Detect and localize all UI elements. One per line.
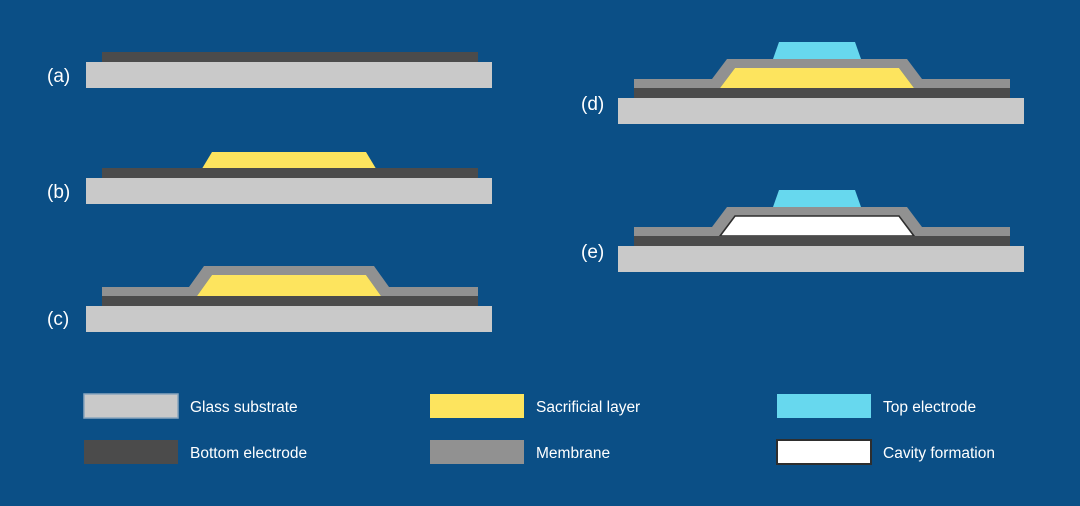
legend-label-top-electrode: Top electrode bbox=[883, 399, 976, 416]
panel-d-top-electrode bbox=[773, 42, 861, 59]
panel-e-cavity bbox=[720, 216, 914, 236]
legend-swatch-cavity-formation bbox=[777, 440, 871, 464]
legend-swatch-membrane bbox=[430, 440, 524, 464]
legend-label-bottom-electrode: Bottom electrode bbox=[190, 445, 307, 462]
panel-b-label: (b) bbox=[47, 182, 70, 203]
panel-d-label: (d) bbox=[581, 94, 604, 115]
legend-label-glass-substrate: Glass substrate bbox=[190, 399, 298, 416]
panel-c-glass-substrate bbox=[86, 306, 492, 332]
legend-swatch-bottom-electrode bbox=[84, 440, 178, 464]
panel-e-glass-substrate bbox=[618, 246, 1024, 272]
panel-a-bottom-electrode bbox=[102, 52, 478, 62]
panel-a-label: (a) bbox=[47, 66, 70, 87]
panel-c-label: (c) bbox=[47, 309, 69, 330]
panel-a: (a) bbox=[47, 52, 492, 88]
panel-b-glass-substrate bbox=[86, 178, 492, 204]
legend-label-cavity-formation: Cavity formation bbox=[883, 445, 995, 462]
panel-e-label: (e) bbox=[581, 242, 604, 263]
process-flow-figure: (a) (b) (c) (d) (e) bbox=[0, 0, 1080, 506]
panel-e-top-electrode bbox=[773, 190, 861, 207]
legend-label-sacrificial-layer: Sacrificial layer bbox=[536, 399, 640, 416]
panel-c-bottom-electrode bbox=[102, 296, 478, 306]
panel-d-sacrificial-layer bbox=[720, 68, 914, 88]
legend-swatch-glass-substrate bbox=[84, 394, 178, 418]
legend-label-membrane: Membrane bbox=[536, 445, 610, 462]
legend-swatch-sacrificial-layer bbox=[430, 394, 524, 418]
panel-d-bottom-electrode bbox=[634, 88, 1010, 98]
panel-c-sacrificial-layer bbox=[197, 275, 381, 296]
panel-b-bottom-electrode bbox=[102, 168, 478, 178]
panel-e-bottom-electrode bbox=[634, 236, 1010, 246]
panel-a-glass-substrate bbox=[86, 62, 492, 88]
panel-d-glass-substrate bbox=[618, 98, 1024, 124]
legend-swatch-top-electrode bbox=[777, 394, 871, 418]
